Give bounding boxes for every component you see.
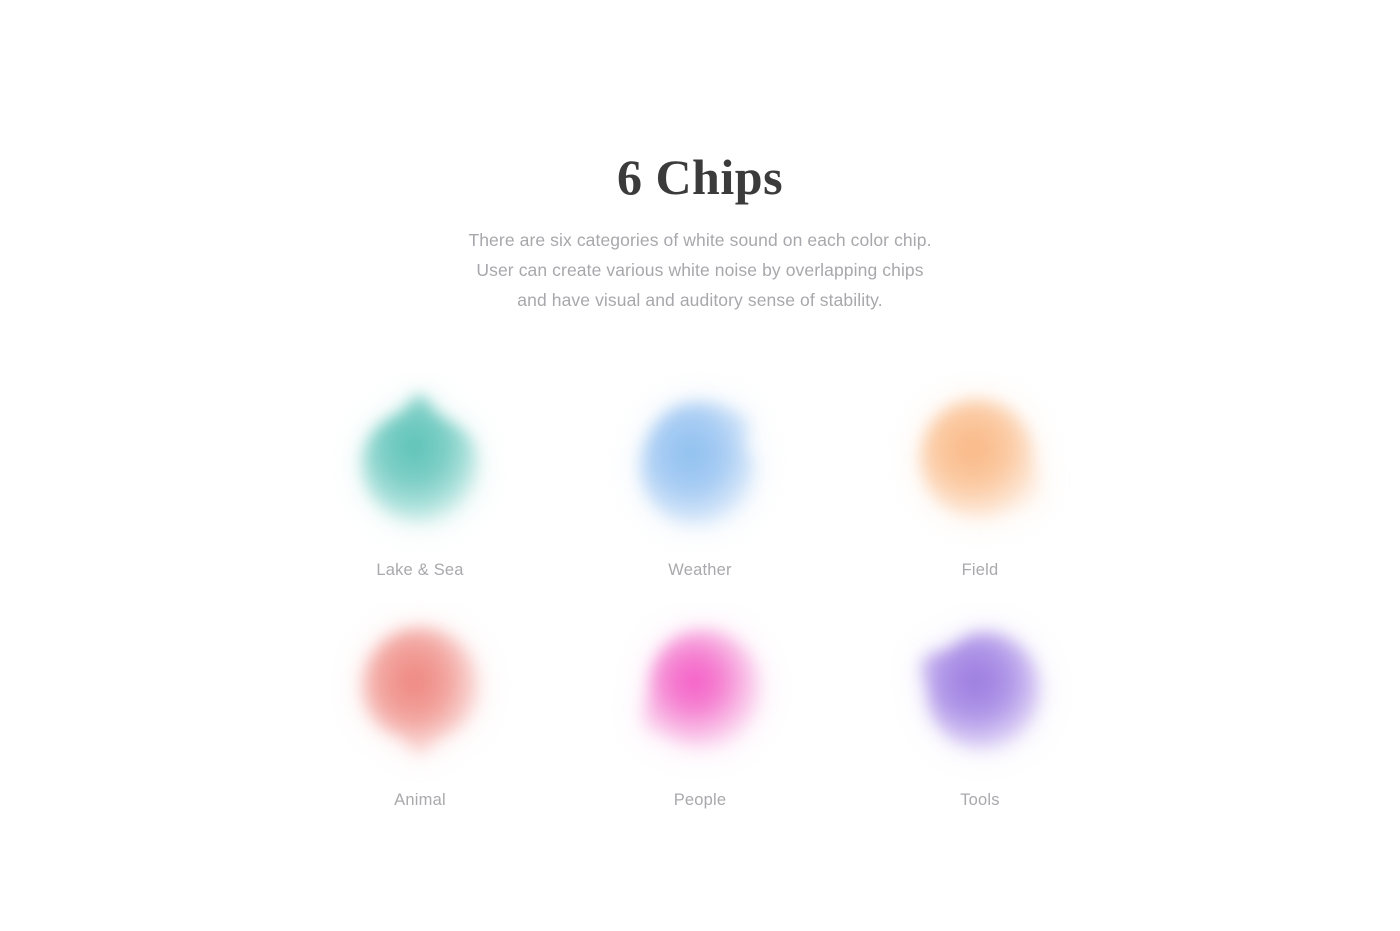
page-header: 6 Chips There are six categories of whit…	[0, 0, 1400, 315]
chip-item-weather[interactable]: Weather	[609, 372, 791, 582]
page-subtitle: There are six categories of white sound …	[0, 208, 1400, 315]
blob-chip-teal-icon[interactable]	[329, 372, 511, 554]
chip-row-top: Lake & Sea	[0, 372, 1400, 582]
blob-chip-purple-icon[interactable]	[889, 602, 1071, 784]
blob-chip-salmon-icon[interactable]	[329, 602, 511, 784]
blob-chip-orange-icon[interactable]	[889, 372, 1071, 554]
subtitle-line-1: There are six categories of white sound …	[0, 225, 1400, 255]
subtitle-line-2: User can create various white noise by o…	[0, 255, 1400, 285]
chip-label-field: Field	[962, 558, 999, 582]
blob-chip-blue-icon[interactable]	[609, 372, 791, 554]
chip-item-tools[interactable]: Tools	[889, 602, 1071, 812]
chip-label-weather: Weather	[668, 558, 731, 582]
chip-item-people[interactable]: People	[609, 602, 791, 812]
blob-chip-pink-icon[interactable]	[609, 602, 791, 784]
subtitle-line-3: and have visual and auditory sense of st…	[0, 285, 1400, 315]
page-root: 6 Chips There are six categories of whit…	[0, 0, 1400, 931]
chip-label-animal: Animal	[394, 788, 446, 812]
chip-item-lake-sea[interactable]: Lake & Sea	[329, 372, 511, 582]
chip-row-bottom: Animal	[0, 602, 1400, 812]
chip-item-animal[interactable]: Animal	[329, 602, 511, 812]
chip-grid: Lake & Sea	[0, 372, 1400, 812]
chip-item-field[interactable]: Field	[889, 372, 1071, 582]
chip-label-people: People	[674, 788, 727, 812]
chip-label-lake-sea: Lake & Sea	[376, 558, 463, 582]
chip-label-tools: Tools	[960, 788, 1000, 812]
page-title: 6 Chips	[0, 0, 1400, 208]
